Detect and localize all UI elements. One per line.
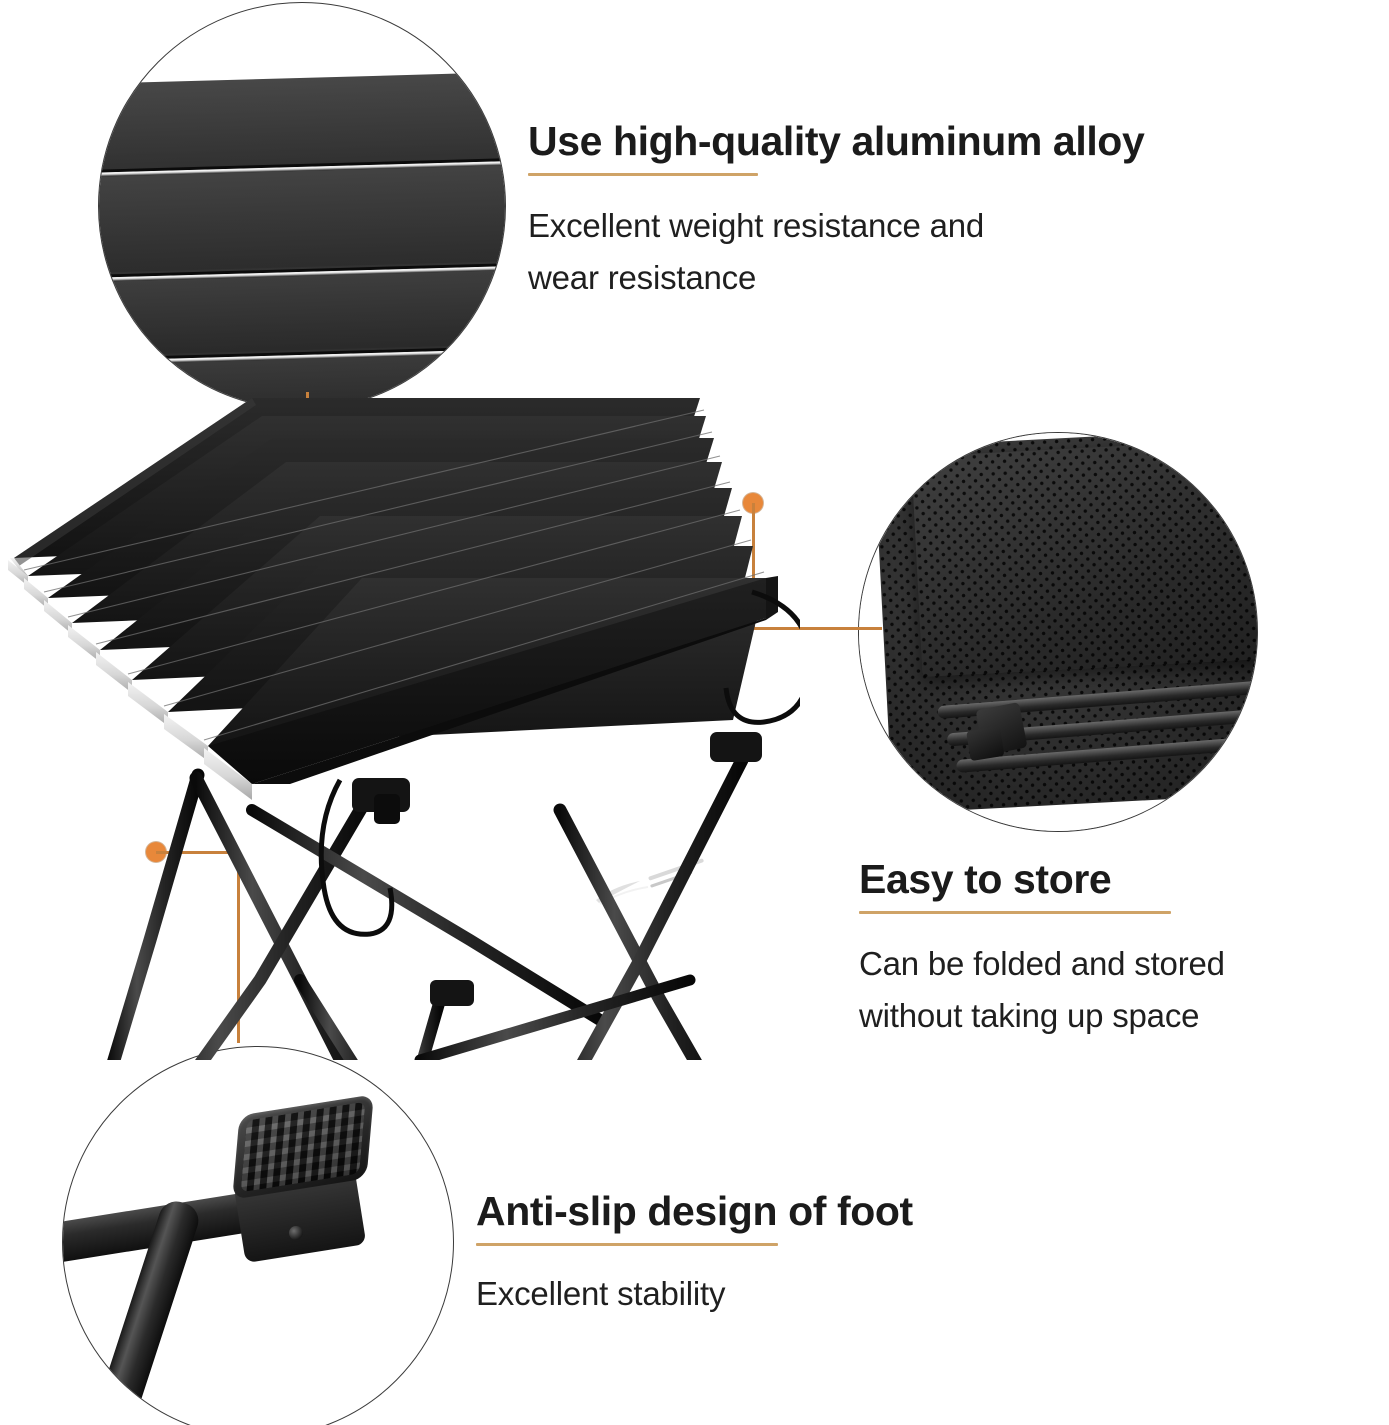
callout-body-line: Can be folded and stored (859, 938, 1225, 990)
callout-underline (476, 1243, 778, 1246)
infographic-page: Use high-quality aluminum alloy Excellen… (0, 0, 1389, 1425)
zipper-tab-icon (966, 726, 1004, 761)
mesh-bag-image (874, 432, 1258, 814)
callout-title: Use high-quality aluminum alloy (528, 120, 1144, 163)
callout-underline (528, 173, 758, 176)
mesh-bag-flap (911, 436, 1258, 676)
inset-slats-closeup (98, 2, 506, 410)
callout-underline (859, 911, 1171, 914)
callout-body-line: Excellent weight resistance and (528, 200, 1144, 252)
callout-body-line: wear resistance (528, 252, 1144, 304)
callout-body: Can be folded and stored without taking … (859, 938, 1225, 1042)
table-top-slats (8, 398, 778, 904)
callout-anti-slip-foot: Anti-slip design of foot Excellent stabi… (476, 1190, 913, 1320)
callout-aluminum-alloy: Use high-quality aluminum alloy Excellen… (528, 120, 1144, 304)
callout-body: Excellent weight resistance and wear res… (528, 200, 1144, 304)
callout-title: Anti-slip design of foot (476, 1190, 913, 1233)
inset-mesh-bag-closeup (858, 432, 1258, 832)
frame-hub-brackets (352, 732, 762, 1006)
callout-body: Excellent stability (476, 1268, 913, 1320)
anti-slip-tread-icon (240, 1101, 365, 1192)
table-frame (108, 760, 742, 1060)
callout-title: Easy to store (859, 858, 1225, 901)
callout-body-line: without taking up space (859, 990, 1225, 1042)
callout-easy-to-store: Easy to store Can be folded and stored w… (859, 858, 1225, 1042)
callout-body-line: Excellent stability (476, 1268, 913, 1320)
product-photo-folding-table (0, 380, 800, 1060)
inset-foot-closeup (62, 1046, 454, 1425)
slat-stack-image (98, 71, 506, 410)
